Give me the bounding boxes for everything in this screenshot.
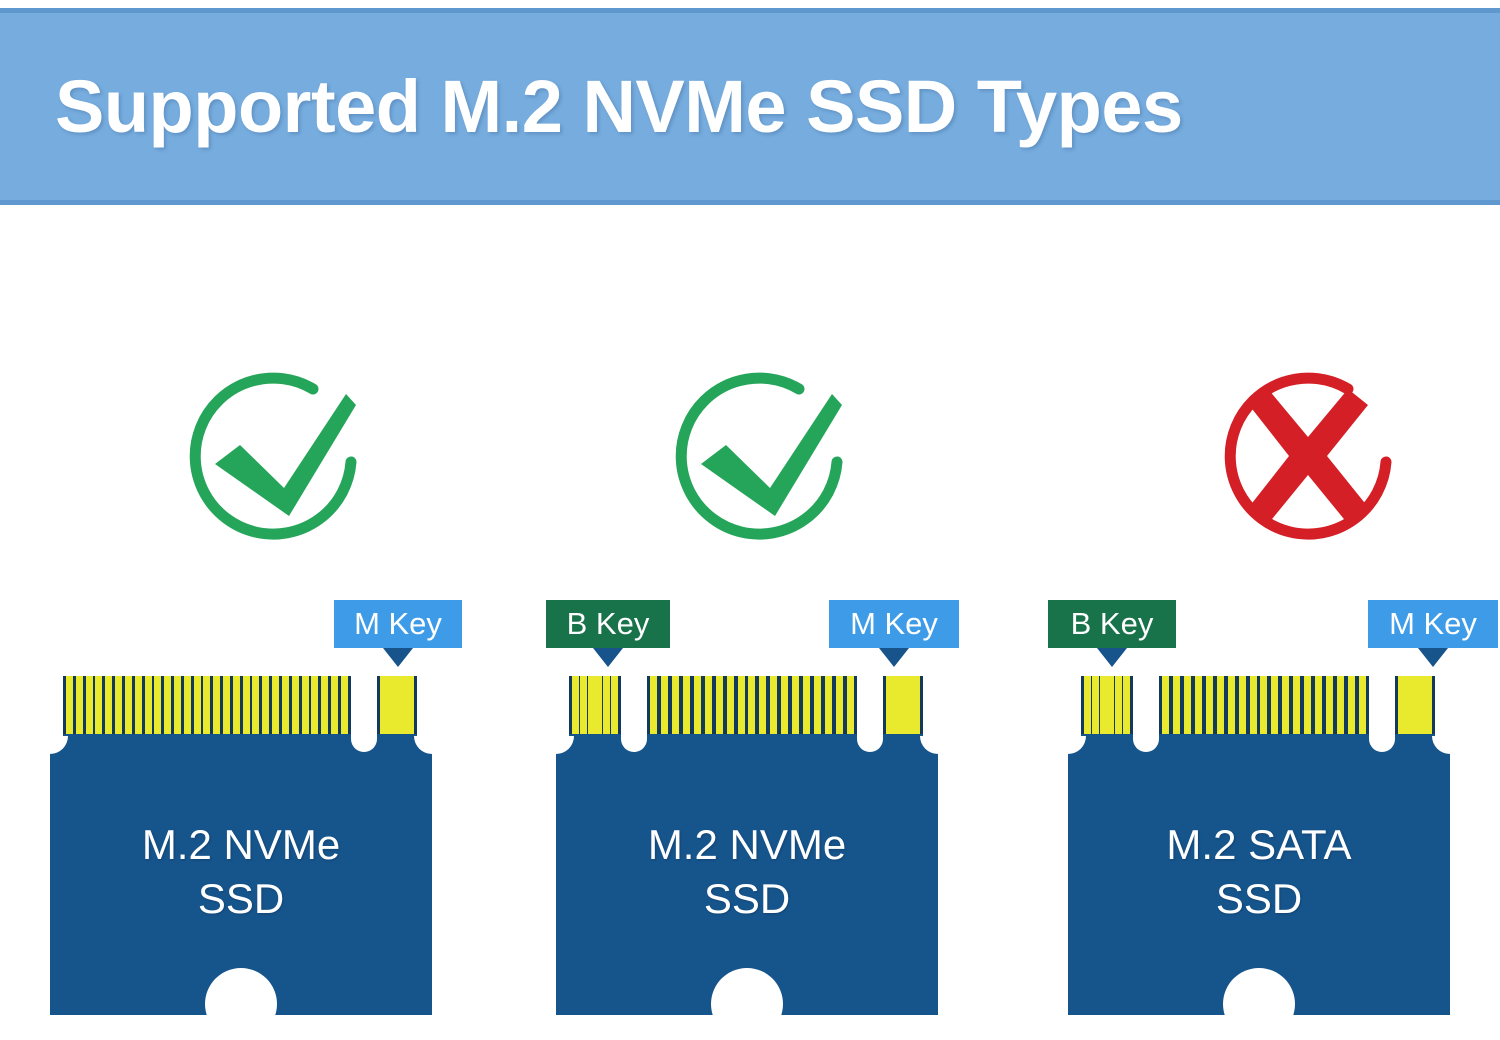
pin xyxy=(321,676,328,734)
pin xyxy=(1195,676,1202,734)
key-badge-label: M Key xyxy=(354,606,442,642)
pin xyxy=(803,676,810,734)
pin xyxy=(913,676,920,734)
key-badge-label: B Key xyxy=(1071,606,1154,642)
key-badge-label: M Key xyxy=(850,606,938,642)
pin xyxy=(814,676,821,734)
pin xyxy=(1348,676,1355,734)
ssd-card-label: M.2 NVMe SSD xyxy=(556,818,938,926)
pin xyxy=(1084,676,1091,734)
pin-group-main xyxy=(647,676,857,734)
pin xyxy=(387,676,394,734)
pin-group-b-key xyxy=(1081,676,1133,734)
pin xyxy=(1271,676,1278,734)
pin xyxy=(694,676,701,734)
pin xyxy=(184,676,191,734)
pin xyxy=(792,676,799,734)
pin xyxy=(1250,676,1257,734)
pin xyxy=(893,676,900,734)
pin xyxy=(1282,676,1289,734)
pin xyxy=(661,676,668,734)
pin xyxy=(76,676,83,734)
pin xyxy=(407,676,414,734)
pin xyxy=(95,676,102,734)
check-circle-icon xyxy=(656,367,856,557)
badge-pointer-icon xyxy=(1097,648,1127,667)
key-badge-m-2: M Key xyxy=(829,600,959,648)
pin xyxy=(233,676,240,734)
pin xyxy=(1184,676,1191,734)
pin xyxy=(1217,676,1224,734)
key-slot-m xyxy=(857,670,883,752)
pin xyxy=(738,676,745,734)
pin xyxy=(1405,676,1412,734)
pin xyxy=(341,676,348,734)
pin-group-m-key xyxy=(377,676,417,734)
pin xyxy=(272,676,279,734)
pin xyxy=(1206,676,1213,734)
pin xyxy=(1228,676,1235,734)
pin-group-b-key xyxy=(569,676,621,734)
pin xyxy=(770,676,777,734)
pin-group-m-key xyxy=(1395,676,1435,734)
pin xyxy=(1315,676,1322,734)
pin xyxy=(847,676,854,734)
key-badge-b-3: B Key xyxy=(1048,600,1176,648)
pin xyxy=(1412,676,1419,734)
pin xyxy=(1162,676,1169,734)
key-badge-label: B Key xyxy=(567,606,650,642)
pin xyxy=(1239,676,1246,734)
header-banner: Supported M.2 NVMe SSD Types xyxy=(0,8,1500,205)
ssd-card-label: M.2 SATA SSD xyxy=(1068,818,1450,926)
pin xyxy=(672,676,679,734)
badge-pointer-icon xyxy=(593,648,623,667)
pin xyxy=(1173,676,1180,734)
pin xyxy=(66,676,73,734)
pin xyxy=(115,676,122,734)
pin xyxy=(781,676,788,734)
pin xyxy=(1100,676,1107,734)
pin xyxy=(588,676,595,734)
pin xyxy=(1293,676,1300,734)
key-badge-label: M Key xyxy=(1389,606,1477,642)
key-slot-b xyxy=(621,670,647,752)
pin xyxy=(906,676,913,734)
key-slot-b xyxy=(1133,670,1159,752)
pin xyxy=(262,676,269,734)
pin xyxy=(1326,676,1333,734)
pin xyxy=(611,676,618,734)
pin xyxy=(650,676,657,734)
page-title: Supported M.2 NVMe SSD Types xyxy=(55,64,1183,149)
pin xyxy=(194,676,201,734)
pin xyxy=(174,676,181,734)
pin xyxy=(900,676,907,734)
pin xyxy=(394,676,401,734)
pin xyxy=(836,676,843,734)
pin xyxy=(1425,676,1432,734)
pin xyxy=(1092,676,1099,734)
pin xyxy=(595,676,602,734)
cross-circle-icon xyxy=(1200,367,1410,562)
key-slot-m xyxy=(351,670,377,752)
pin xyxy=(603,676,610,734)
pin xyxy=(759,676,766,734)
pin xyxy=(1123,676,1130,734)
pin xyxy=(1260,676,1267,734)
pin xyxy=(1418,676,1425,734)
pin xyxy=(380,676,387,734)
pin xyxy=(105,676,112,734)
pin xyxy=(292,676,299,734)
pin xyxy=(311,676,318,734)
pin xyxy=(243,676,250,734)
pin xyxy=(1115,676,1122,734)
pin xyxy=(86,676,93,734)
badge-pointer-icon xyxy=(1418,648,1448,667)
ssd-card-label: M.2 NVMe SSD xyxy=(50,818,432,926)
pin xyxy=(252,676,259,734)
pin xyxy=(135,676,142,734)
pin xyxy=(203,676,210,734)
key-badge-m-1: M Key xyxy=(334,600,462,648)
pin xyxy=(886,676,893,734)
pin xyxy=(282,676,289,734)
pin xyxy=(154,676,161,734)
pin xyxy=(683,676,690,734)
pin xyxy=(572,676,579,734)
pin xyxy=(400,676,407,734)
pin xyxy=(223,676,230,734)
pin xyxy=(1107,676,1114,734)
key-badge-b-2: B Key xyxy=(546,600,670,648)
badge-pointer-icon xyxy=(879,648,909,667)
pin xyxy=(825,676,832,734)
pin xyxy=(580,676,587,734)
pin xyxy=(331,676,338,734)
pin xyxy=(1337,676,1344,734)
pin-group-main xyxy=(63,676,351,734)
check-circle-icon xyxy=(170,367,370,557)
pin xyxy=(145,676,152,734)
pin xyxy=(727,676,734,734)
key-slot-m xyxy=(1369,670,1395,752)
pin xyxy=(1304,676,1311,734)
pin xyxy=(302,676,309,734)
pin xyxy=(1359,676,1366,734)
mount-hole xyxy=(1223,968,1295,1040)
badge-pointer-icon xyxy=(383,648,413,667)
pin xyxy=(213,676,220,734)
key-badge-m-3: M Key xyxy=(1368,600,1498,648)
pin xyxy=(705,676,712,734)
pin xyxy=(125,676,132,734)
pin-group-m-key xyxy=(883,676,923,734)
pin xyxy=(716,676,723,734)
pin xyxy=(1398,676,1405,734)
mount-hole xyxy=(205,968,277,1040)
pin-group-main xyxy=(1159,676,1369,734)
mount-hole xyxy=(711,968,783,1040)
pin xyxy=(748,676,755,734)
pin xyxy=(164,676,171,734)
